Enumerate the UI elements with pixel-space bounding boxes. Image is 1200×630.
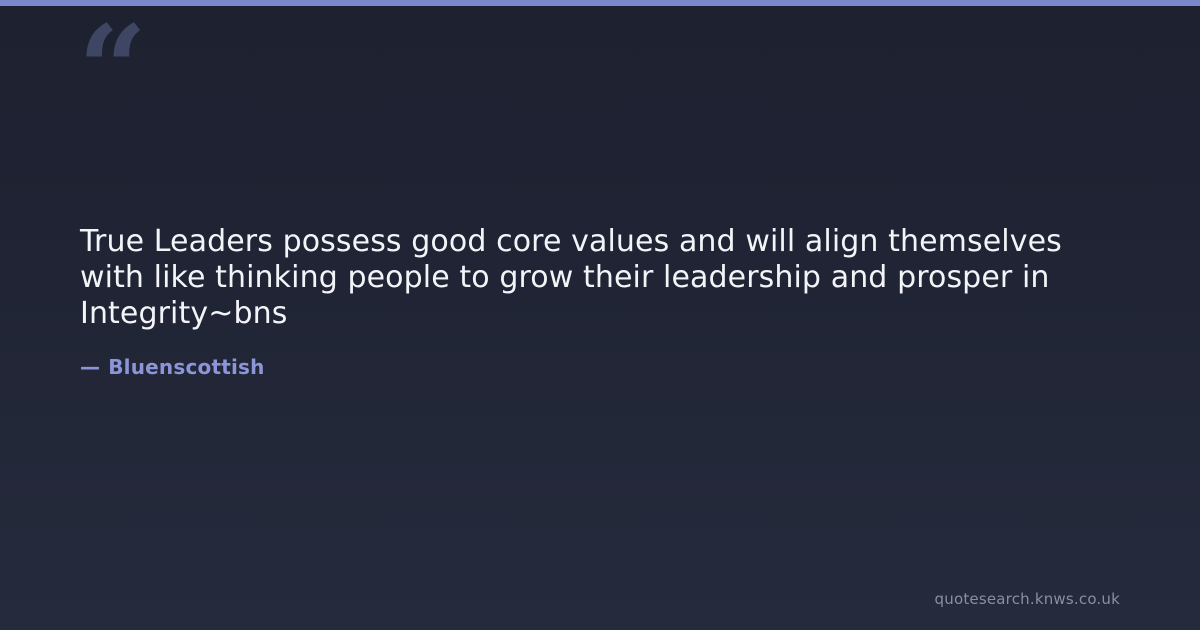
em-dash-icon: — [80,355,100,379]
quote-text: True Leaders possess good core values an… [80,224,1125,332]
author-name: Bluenscottish [108,355,264,379]
quote-card: “ True Leaders possess good core values … [0,0,1200,630]
quote-attribution: —Bluenscottish [80,354,1125,380]
source-site-url: quotesearch.knws.co.uk [935,590,1120,608]
quote-content: True Leaders possess good core values an… [80,224,1125,380]
open-quote-icon: “ [78,10,145,130]
top-accent-bar [0,0,1200,6]
